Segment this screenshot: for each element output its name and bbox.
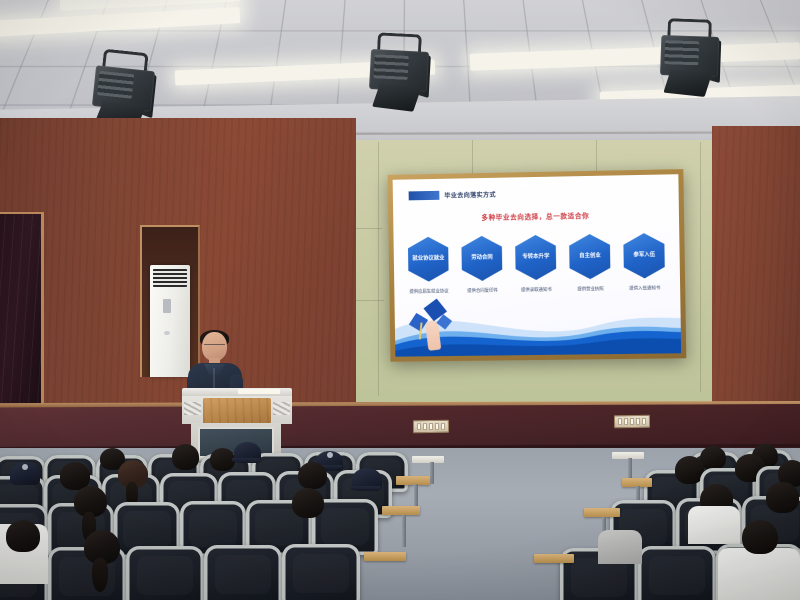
option-caption: 提供录取通知书: [521, 287, 552, 293]
lectern-speaker-grill: [184, 402, 201, 415]
seat-writing-tablet: [364, 552, 406, 561]
hexagon-icon: 专转本升学: [515, 235, 557, 281]
wall-panel-seam: [378, 142, 379, 396]
seat-writing-tablet: [534, 554, 574, 563]
attendee-head: [298, 462, 327, 489]
slide-option: 自主创业 提供营业执照: [567, 234, 614, 293]
seat-leg: [402, 515, 406, 547]
attendee-head: [292, 488, 324, 518]
slide-option: 专转本升学 提供录取通知书: [513, 235, 560, 294]
cap-logo-icon: [22, 464, 28, 470]
seat-writing-tablet: [396, 476, 430, 485]
spotlight-lens: [97, 71, 134, 99]
cap-logo-icon: [327, 452, 333, 458]
attendee-head: [742, 520, 778, 554]
seat-writing-tablet: [382, 506, 420, 515]
hexagon-icon: 就业协议就业: [408, 236, 449, 281]
seat[interactable]: [204, 545, 282, 600]
ac-display-panel[interactable]: [163, 299, 171, 313]
slide-option: 参军入伍 提供入伍通知书: [621, 233, 668, 292]
seat[interactable]: [638, 546, 716, 600]
attendee-head: [172, 444, 199, 470]
attendee-shirt: [598, 530, 642, 564]
option-label: 自主创业: [577, 253, 603, 261]
option-caption: 提供合同复印件: [467, 288, 498, 294]
option-label: 参军入伍: [631, 252, 657, 260]
wall-panel-seam: [352, 228, 382, 229]
slide-header: 毕业去向落实方式: [409, 190, 496, 201]
option-caption: 提供营业执照: [577, 286, 604, 292]
wall-panel-seam: [700, 142, 701, 392]
wall-panel-seam: [352, 300, 384, 301]
wall-outlet-panel[interactable]: [413, 420, 449, 433]
spotlight-barndoor: [372, 83, 421, 112]
wall-outlet-panel[interactable]: [614, 415, 650, 428]
ac-sensor-icon: [164, 331, 170, 335]
spotlight-barndoor: [663, 69, 712, 97]
hexagon-icon: 自主创业: [569, 234, 611, 280]
graduation-cap-icon: [406, 294, 470, 351]
seat[interactable]: [282, 544, 360, 600]
cap-brim-icon: [232, 458, 260, 463]
option-label: 劳动合同: [469, 255, 495, 263]
option-label: 专转本升学: [520, 254, 551, 262]
option-caption: 提供入伍通知书: [629, 285, 660, 291]
attendee-head: [6, 520, 40, 552]
seat-leg: [430, 462, 434, 484]
option-label: 就业协议就业: [410, 255, 446, 263]
presenter-placket: [213, 368, 215, 388]
slide-subtitle: 多种毕业去向选择，总一款适合你: [393, 208, 679, 223]
lectern-papers: [238, 389, 280, 394]
ac-vent-icon: [153, 269, 187, 287]
glasses-icon: [204, 344, 225, 349]
side-exit-doorway[interactable]: [0, 212, 44, 404]
slide-option-row: 就业协议就业 提供应届生就业协议 劳动合同 提供合同复印件 专转本升学 提供录取…: [394, 233, 681, 296]
spotlight-lens: [664, 40, 699, 65]
tassel-icon: [419, 322, 423, 339]
attendee-shirt: [688, 506, 740, 544]
seat-writing-tablet: [412, 456, 444, 463]
slide-title: 毕业去向落实方式: [444, 190, 496, 200]
slide-accent-chip: [409, 191, 440, 201]
slide-option: 劳动合同 提供合同复印件: [459, 236, 506, 295]
hexagon-icon: 劳动合同: [461, 236, 502, 282]
attendee-ponytail: [92, 558, 108, 592]
hexagon-icon: 参军入伍: [623, 233, 665, 279]
cap-brim-icon: [350, 486, 381, 491]
attendee-shirt: [718, 548, 800, 600]
lectern-speaker-grill: [273, 402, 290, 415]
air-conditioner-unit[interactable]: [150, 265, 190, 377]
attendee-head: [766, 482, 799, 513]
seat[interactable]: [126, 546, 204, 600]
presentation-slide: 毕业去向落实方式 多种毕业去向选择，总一款适合你 就业协议就业 提供应届生就业协…: [393, 174, 682, 356]
auditorium-photo: 毕业去向落实方式 多种毕业去向选择，总一款适合你 就业协议就业 提供应届生就业协…: [0, 0, 800, 600]
slide-option: 就业协议就业 提供应届生就业协议: [405, 236, 451, 294]
projection-screen-frame: 毕业去向落实方式 多种毕业去向选择，总一款适合你 就业协议就业 提供应届生就业协…: [388, 169, 687, 362]
right-wood-wall: [712, 126, 800, 408]
lectern-wood-panel: [203, 398, 271, 424]
spotlight-lens: [374, 54, 409, 80]
attendee-head: [700, 446, 726, 470]
seat-writing-tablet: [584, 508, 620, 517]
